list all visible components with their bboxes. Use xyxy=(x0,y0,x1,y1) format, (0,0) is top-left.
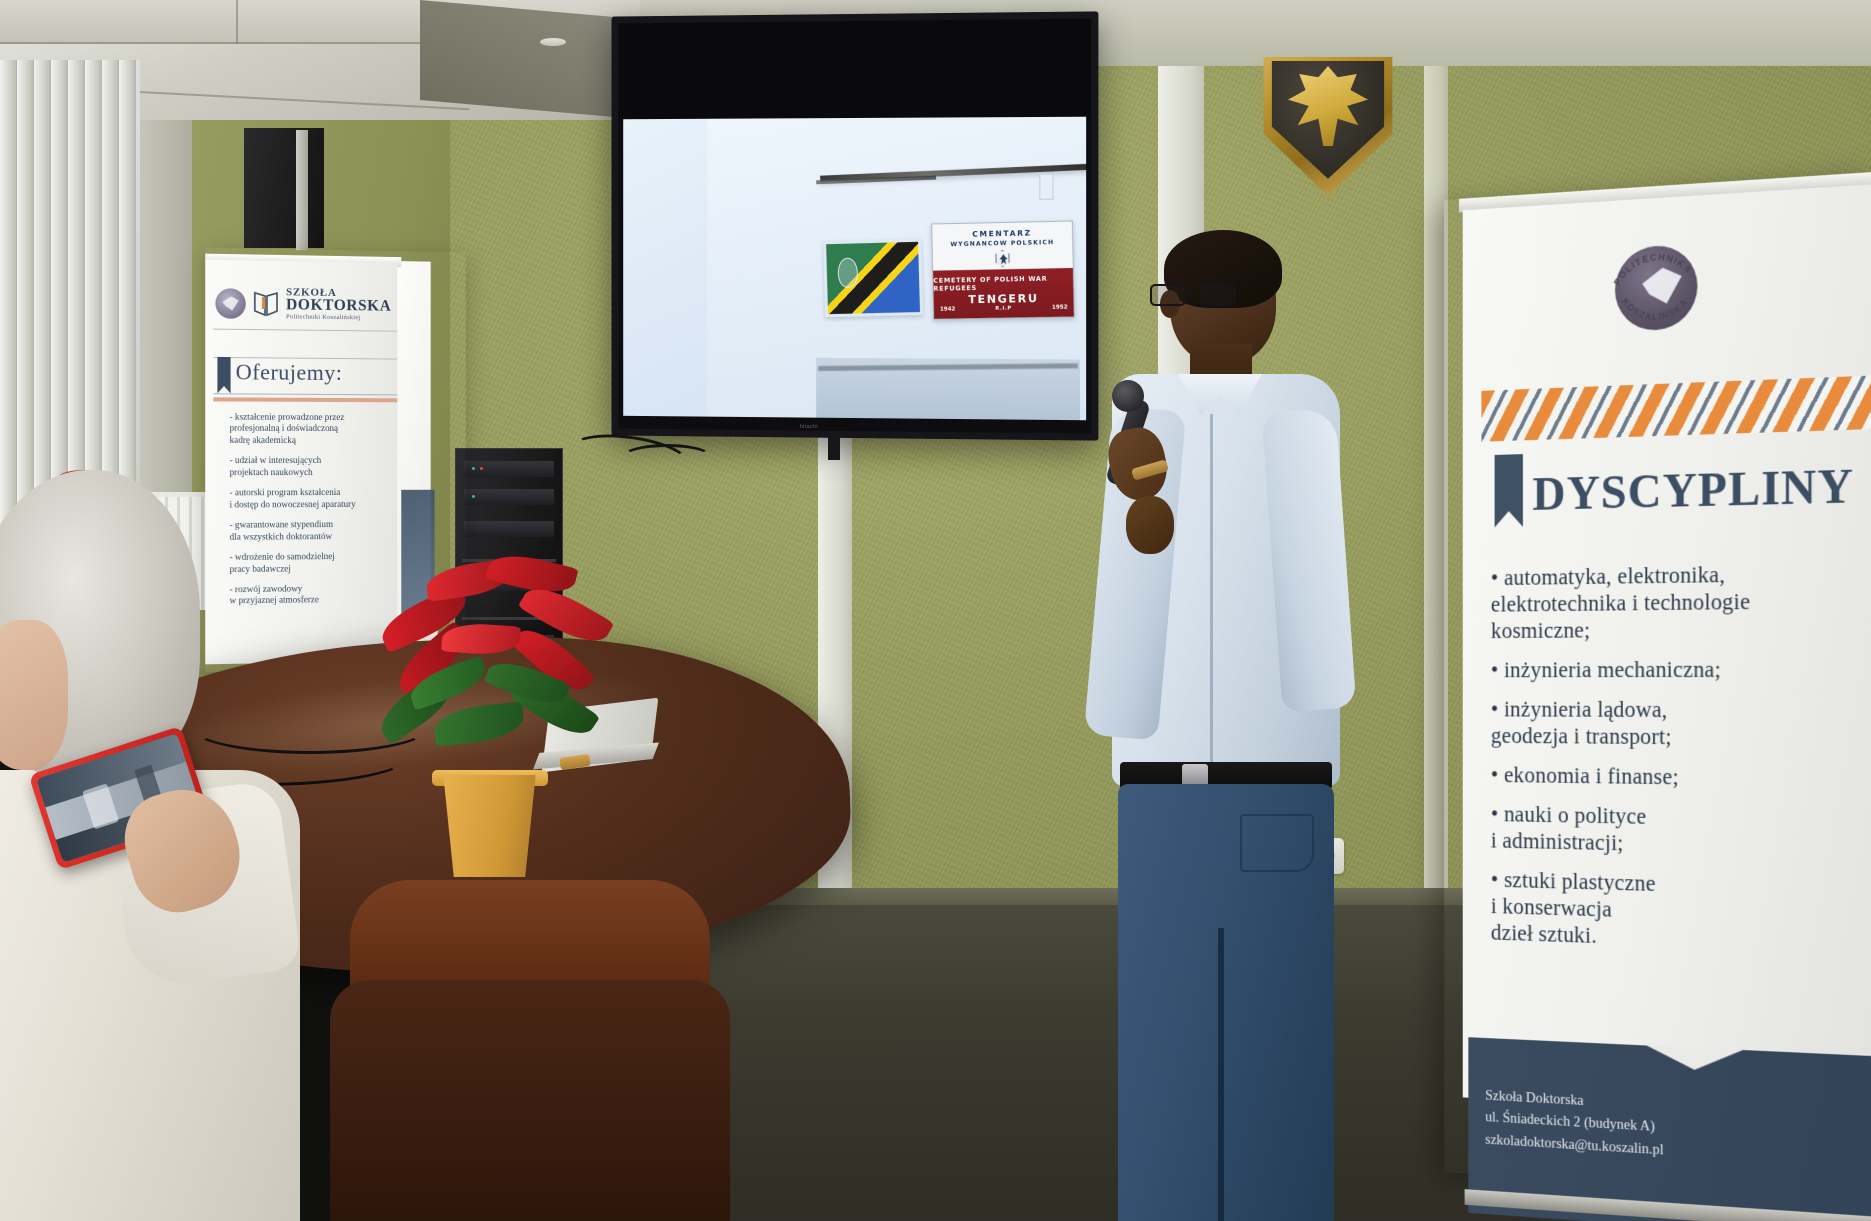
list-item: • inżynieria lądowa, geodezja i transpor… xyxy=(1491,696,1871,753)
hanging-cable xyxy=(622,444,712,470)
banner-rule xyxy=(213,393,397,395)
shirt-placket xyxy=(1210,414,1213,784)
politechnika-koszalinska-seal-icon xyxy=(215,288,245,319)
seal-circular-text: POLITECHNIKA KOSZALINSKA xyxy=(1605,235,1707,340)
cemetery-sign: CMENTARZ WYGNANCOW POLSKICH CEMETERY OF … xyxy=(931,220,1075,319)
flag-emblem-icon xyxy=(837,257,858,287)
banner-logo-row: SZKOŁA DOKTORSKA Politechniki Koszalińsk… xyxy=(215,286,391,322)
microphone-head-icon xyxy=(1112,380,1144,412)
banner-accent-line xyxy=(213,397,397,402)
svg-text:KOSZALINSKA: KOSZALINSKA xyxy=(1620,293,1690,324)
svg-text:POLITECHNIKA: POLITECHNIKA xyxy=(1612,250,1694,287)
audience-member-foreground xyxy=(0,470,370,1221)
presenter-hand-lower xyxy=(1126,496,1174,554)
sign-year-from: 1942 xyxy=(940,306,956,312)
sign-english-line: CEMETERY OF POLISH WAR REFUGEES xyxy=(933,274,1073,293)
conference-room-scene: CMENTARZ WYGNANCOW POLSKICH CEMETERY OF … xyxy=(0,0,1871,1221)
chair-seat xyxy=(330,980,730,1221)
bookmark-icon xyxy=(1495,454,1523,527)
polish-eagle-crest-icon xyxy=(995,250,1010,267)
list-item: • automatyka, elektronika, elektrotechni… xyxy=(1491,557,1871,644)
ceiling-seam xyxy=(236,0,238,44)
projector-mount-arm xyxy=(296,130,308,250)
wall-mounted-tv[interactable]: CMENTARZ WYGNANCOW POLSKICH CEMETERY OF … xyxy=(612,11,1099,440)
jeans-seam xyxy=(1218,928,1224,1221)
banner-rule xyxy=(213,329,397,332)
poinsettia-leaf xyxy=(432,701,525,746)
list-item: • sztuki plastyczne i konserwacja dzieł … xyxy=(1491,866,1871,961)
bookmark-icon xyxy=(217,357,230,393)
tv-screen-dark-area xyxy=(618,19,1091,123)
banner-footer-text: Szkoła Doktorska ul. Śniadeckich 2 (budy… xyxy=(1485,1085,1871,1178)
banner-body: POLITECHNIKA KOSZALINSKA DYSCYPLINY • au… xyxy=(1463,184,1871,1121)
office-chair[interactable] xyxy=(330,880,730,1221)
open-book-icon xyxy=(253,290,279,319)
left-wall-column xyxy=(132,64,192,534)
list-item: - kształcenie prowadzone przez profesjon… xyxy=(230,412,402,447)
banner-discipline-list: • automatyka, elektronika, elektrotechni… xyxy=(1491,557,1871,974)
rollup-banner-right: POLITECHNIKA KOSZALINSKA DYSCYPLINY • au… xyxy=(1444,171,1871,1200)
eyeglasses-icon xyxy=(1150,284,1242,308)
red-poinsettia xyxy=(370,540,610,790)
list-item: • inżynieria mechaniczna; xyxy=(1491,655,1871,683)
tv-brand-label: hitachi xyxy=(800,424,818,430)
banner-logo-line2: DOKTORSKA xyxy=(286,297,391,314)
sign-title-line1: CMENTARZ xyxy=(972,228,1032,238)
list-item: • nauki o polityce i administracji; xyxy=(1491,800,1871,863)
banner-logo-line3: Politechniki Koszalińskiej xyxy=(286,314,391,322)
slide-photograph: CMENTARZ WYGNANCOW POLSKICH CEMETERY OF … xyxy=(707,117,1086,421)
polish-eagle-coat-of-arms-plaque xyxy=(1258,48,1398,196)
sign-year-to: 1952 xyxy=(1052,304,1068,310)
banner-logo-text: SZKOŁA DOKTORSKA Politechniki Koszalińsk… xyxy=(286,287,391,322)
tv-screen[interactable]: CMENTARZ WYGNANCOW POLSKICH CEMETERY OF … xyxy=(623,117,1086,421)
belt-buckle xyxy=(1182,764,1208,786)
plant-pot xyxy=(437,775,542,877)
sign-place-name: TENGERU xyxy=(968,291,1039,305)
tv-mount xyxy=(828,436,840,460)
banner-heading: Oferujemy: xyxy=(236,359,343,386)
smoke-detector-icon xyxy=(540,38,566,46)
presenter xyxy=(1090,228,1410,1221)
banner-title: DYSCYPLINY xyxy=(1532,458,1854,521)
audience-face xyxy=(0,620,68,770)
tanzania-flag xyxy=(823,239,923,318)
jeans-pocket xyxy=(1240,814,1314,872)
list-item: • ekonomia i finanse; xyxy=(1491,761,1871,794)
sign-rip: R.I.P xyxy=(995,305,1012,311)
sign-red-panel: CEMETERY OF POLISH WAR REFUGEES TENGERU … xyxy=(933,268,1074,319)
ceiling-speaker xyxy=(244,128,324,248)
banner-stripe-band xyxy=(1481,374,1871,441)
sign-title-line2: WYGNANCOW POLSKICH xyxy=(950,239,1054,248)
slide-small-box xyxy=(1039,173,1053,199)
